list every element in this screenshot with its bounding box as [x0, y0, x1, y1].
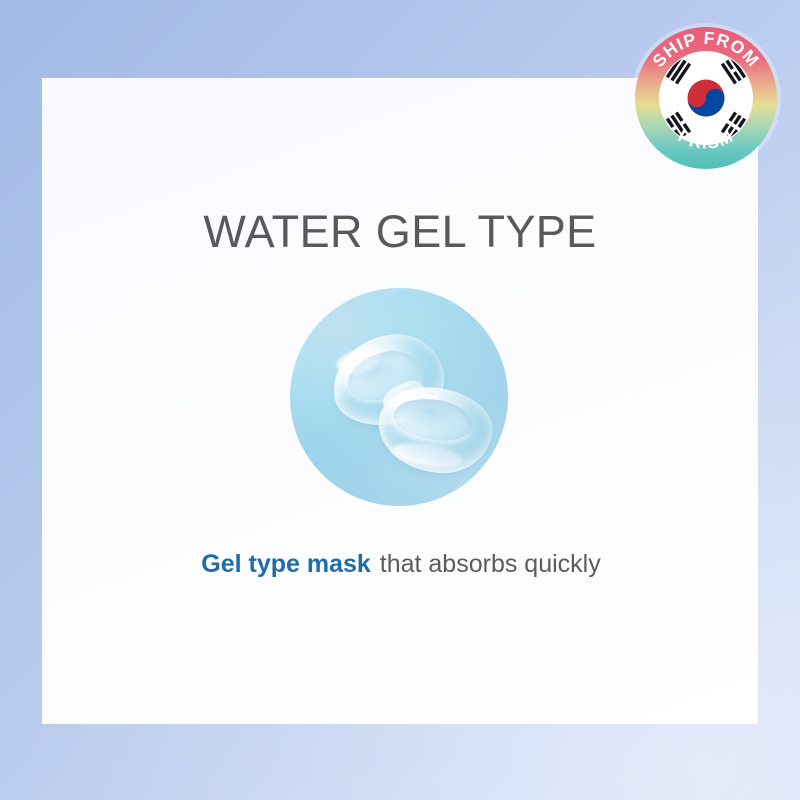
content-card: WATER GEL TYPE Gel type mask that absorb… — [42, 78, 758, 724]
gel-texture-circle — [290, 288, 508, 506]
page-title: WATER GEL TYPE — [42, 209, 758, 254]
promo-image-canvas: WATER GEL TYPE Gel type mask that absorb… — [0, 0, 800, 800]
caption-rest: that absorbs quickly — [373, 550, 601, 578]
caption-highlight: Gel type mask — [199, 550, 373, 578]
ship-from-prism-badge: SHIP FROM PRISM — [630, 22, 782, 174]
caption: Gel type mask that absorbs quickly — [42, 549, 758, 579]
gel-blob-lower-inner-rim — [391, 393, 476, 445]
